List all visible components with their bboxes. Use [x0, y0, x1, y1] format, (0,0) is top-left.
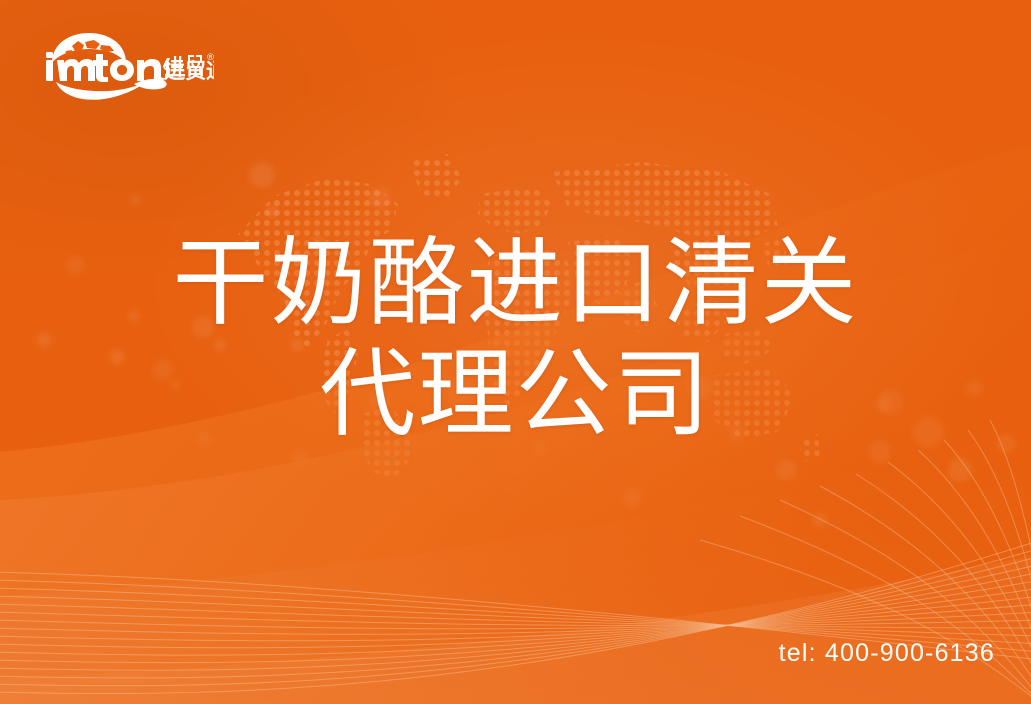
page-title: 干奶酪进口清关 代理公司: [0, 228, 1031, 451]
contact-phone[interactable]: tel: 400-900-6136: [779, 639, 995, 668]
bokeh-circle: [249, 162, 275, 188]
bokeh-circle: [266, 206, 278, 218]
logo-wordmark: [46, 52, 161, 82]
imton-logo[interactable]: 进贸通 ®: [38, 30, 214, 102]
bokeh-circle: [948, 458, 972, 482]
bokeh-circle: [369, 187, 391, 209]
bokeh-circle: [776, 460, 796, 480]
logo-trademark-symbol: ®: [206, 53, 214, 63]
page-title-line-2: 代理公司: [0, 339, 1031, 450]
page-title-line-1: 干奶酪进口清关: [0, 228, 1031, 339]
dragon-swoosh-icon: [56, 76, 167, 100]
bokeh-circle: [813, 513, 827, 527]
bokeh-circle: [130, 195, 140, 205]
banner-canvas: 进贸通 ® 干奶酪进口清关 代理公司 tel: 400-900-6136: [0, 0, 1031, 704]
bokeh-circle: [623, 489, 641, 507]
bokeh-circle: [292, 450, 308, 466]
